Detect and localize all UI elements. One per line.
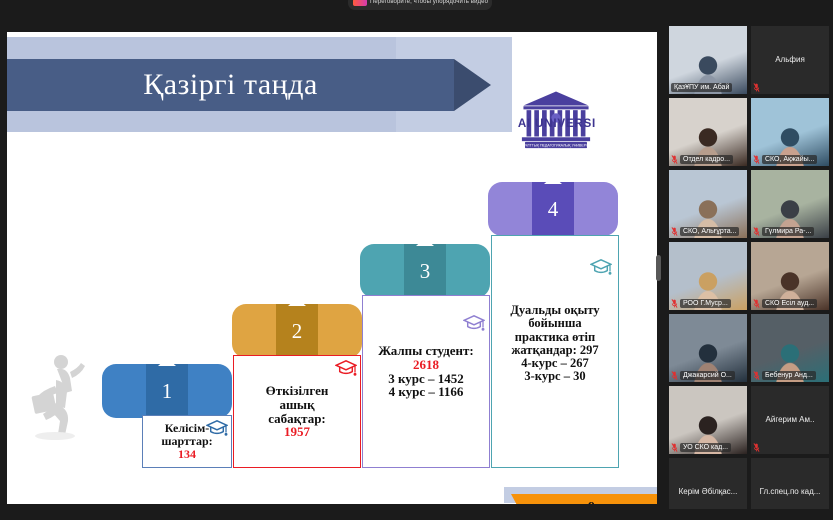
abai-university-logo: ABAI UNIVERSITY ҚАЗАҚ ҰЛТТЫҚ ПЕДАГОГИКАЛ…: [517, 90, 595, 152]
mic-muted-icon: [753, 371, 760, 380]
slide-number: 9: [526, 494, 657, 504]
step-info-4-line-0: Дуальды оқыту: [510, 304, 599, 317]
businessman-climbing-icon: [25, 350, 87, 442]
step-info-1-line-1: шарттар:: [161, 435, 212, 448]
participant-tile[interactable]: Айгерим Ам..: [751, 386, 829, 454]
step-info-box-2: Өткізілген ашық сабақтар: 1957: [233, 355, 361, 468]
graduation-cap-icon: [335, 359, 357, 377]
step-bar-1: 1: [102, 364, 232, 418]
mic-muted-icon: [753, 443, 760, 452]
meeting-screen: Переговорите, чтобы упорядочить видео Қа…: [0, 0, 833, 520]
graduation-cap-icon: [206, 419, 228, 437]
participant-label: Бебенур Анд...: [753, 371, 827, 380]
step-bar-3: 3: [360, 244, 490, 298]
participant-name: РОО Г.Муср...: [680, 299, 731, 308]
mic-muted-icon: [671, 155, 678, 164]
step-info-2-line-1: ашық: [279, 398, 314, 412]
step-info-box-4: Дуальды оқыту бойынша практика өтіп жатқ…: [491, 235, 619, 468]
participant-tile[interactable]: СКО Есіл ауд...: [751, 242, 829, 310]
mic-muted-icon: [753, 83, 760, 92]
svg-text:ABAI UNIVERSITY: ABAI UNIVERSITY: [517, 117, 595, 130]
participant-name: СКО, Альғұрта...: [680, 227, 739, 236]
mic-muted-icon: [671, 443, 678, 452]
participant-label: Отдел кадро...: [671, 155, 745, 164]
recording-toast-text: Переговорите, чтобы упорядочить видео: [370, 0, 488, 5]
mic-muted-icon: [753, 227, 760, 236]
bottom-letterbox: [0, 509, 833, 520]
participant-name: ҚазҰПУ им. Абай: [671, 83, 732, 92]
step-info-4-line-5: 3-курс – 30: [524, 370, 585, 383]
participant-name: УО СКО кад...: [680, 443, 731, 452]
mic-muted-icon: [753, 299, 760, 308]
participant-video-rail[interactable]: ҚазҰПУ им. АбайАльфияОтдел кадро...СКО, …: [665, 0, 833, 520]
graduation-cap-icon: [463, 314, 485, 332]
participant-label: Джакарсий О...: [671, 371, 745, 380]
mic-muted-icon: [671, 227, 678, 236]
participant-label: УО СКО кад...: [671, 443, 745, 452]
participant-label: СКО, Ақжайы...: [753, 155, 827, 164]
participant-label: ҚазҰПУ им. Абай: [671, 83, 745, 92]
step-bar-2-notch: [288, 298, 306, 306]
mic-muted-icon: [753, 155, 760, 164]
participant-tile[interactable]: УО СКО кад...: [669, 386, 747, 454]
step-info-box-3: Жалпы студент: 2618 3 курс – 1452 4 курс…: [362, 295, 490, 468]
participant-label: Гүлмира Ра-...: [753, 227, 827, 236]
participant-label: [753, 443, 827, 452]
step-bar-4-number: 4: [532, 182, 574, 236]
participant-label: СКО Есіл ауд...: [753, 299, 827, 308]
participant-tile[interactable]: Отдел кадро...: [669, 98, 747, 166]
participant-name: Отдел кадро...: [680, 155, 733, 164]
svg-text:ҚАЗАҚ ҰЛТТЫҚ ПЕДАГОГИКАЛЫҚ УНИ: ҚАЗАҚ ҰЛТТЫҚ ПЕДАГОГИКАЛЫҚ УНИВЕРСИТЕТІ: [517, 144, 595, 148]
step-bar-3-number: 3: [404, 244, 446, 298]
step-bar-3-notch: [416, 238, 434, 246]
step-info-3-line-0: Жалпы студент:: [378, 344, 474, 358]
participant-tile[interactable]: СКО, Альғұрта...: [669, 170, 747, 238]
participant-tile[interactable]: СКО, Ақжайы...: [751, 98, 829, 166]
mic-muted-icon: [671, 371, 678, 380]
recording-toast: Переговорите, чтобы упорядочить видео: [348, 0, 492, 10]
participant-tile[interactable]: Гүлмира Ра-...: [751, 170, 829, 238]
participant-tile[interactable]: Бебенур Анд...: [751, 314, 829, 382]
participant-name: Джакарсий О...: [680, 371, 735, 380]
step-bar-4-notch: [544, 176, 562, 184]
step-info-2-line-0: Өткізілген: [266, 384, 329, 398]
title-banner-arrow: [454, 59, 491, 111]
participant-name: Бебенур Анд...: [762, 371, 816, 380]
step-info-4-line-3: жатқандар: 297: [511, 344, 598, 357]
step-bar-4: 4: [488, 182, 618, 236]
video-rail-scrollbar[interactable]: [656, 255, 661, 281]
step-info-box-1: Келісім- шарттар: 134: [142, 415, 232, 468]
page-title: Қазіргі таңда: [7, 59, 454, 111]
participant-tile[interactable]: РОО Г.Муср...: [669, 242, 747, 310]
participant-label: [753, 83, 827, 92]
step-bar-2-number: 2: [276, 304, 318, 358]
step-info-3-line-1: 2618: [413, 358, 439, 372]
participant-name: Гүлмира Ра-...: [762, 227, 814, 236]
participant-tile[interactable]: Альфия: [751, 26, 829, 94]
step-bar-2: 2: [232, 304, 362, 358]
mic-muted-icon: [671, 299, 678, 308]
graduation-cap-icon: [590, 258, 612, 276]
participant-name: СКО, Ақжайы...: [762, 155, 817, 164]
step-info-4-line-2: практика өтіп: [515, 331, 595, 344]
participant-name: СКО Есіл ауд...: [762, 299, 817, 308]
step-info-2-line-2: сабақтар:: [268, 412, 326, 426]
participant-tile[interactable]: ҚазҰПУ им. Абай: [669, 26, 747, 94]
step-info-3-line-2: 3 курс – 1452: [388, 372, 464, 386]
step-info-4-line-1: бойынша: [528, 317, 581, 330]
step-info-1-line-2: 134: [178, 448, 196, 461]
shared-slide[interactable]: Қазіргі таңда: [7, 32, 657, 504]
step-info-4-line-4: 4-курс – 267: [521, 357, 588, 370]
step-bar-1-number: 1: [146, 364, 188, 418]
step-bar-1-notch: [158, 358, 176, 366]
participant-label: СКО, Альғұрта...: [671, 227, 745, 236]
participant-label: РОО Г.Муср...: [671, 299, 745, 308]
footer-ribbon-fold: [511, 494, 526, 504]
recording-badge-icon: [353, 0, 367, 6]
step-info-2-line-3: 1957: [284, 425, 310, 439]
participant-tile[interactable]: Джакарсий О...: [669, 314, 747, 382]
step-info-3-line-3: 4 курс – 1166: [389, 385, 464, 399]
